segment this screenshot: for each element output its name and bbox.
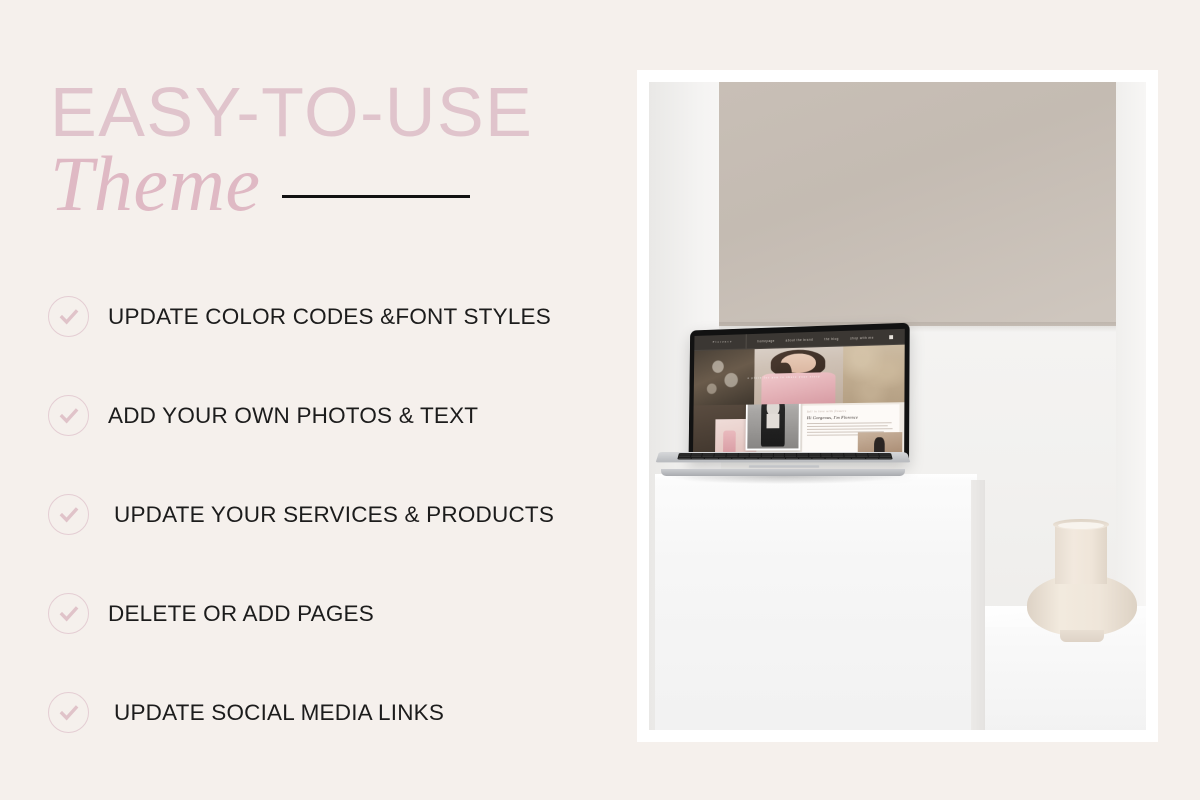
nav-link-blog[interactable]: the blog (824, 336, 838, 340)
nav-link-about[interactable]: about the brand (786, 337, 814, 342)
list-item-label: UPDATE SOCIAL MEDIA LINKS (114, 700, 444, 726)
product-photo: Florence homepage about the brand the bl… (649, 82, 1146, 730)
list-item[interactable]: DELETE OR ADD PAGES (48, 593, 608, 634)
check-circle-icon (48, 692, 89, 733)
laptop-lid: Florence homepage about the brand the bl… (689, 323, 910, 462)
list-item-label: ADD YOUR OWN PHOTOS & TEXT (108, 403, 478, 429)
laptop-base-front (661, 469, 905, 476)
main-pedestal (655, 480, 977, 730)
vase-foot (1060, 630, 1104, 642)
list-item-label: UPDATE COLOR CODES &FONT STYLES (108, 304, 551, 330)
hero-pampas-grass-image (843, 345, 905, 404)
portrait-midsection (767, 414, 779, 428)
black-white-portrait-card (746, 402, 801, 450)
ceramic-vase (1027, 522, 1137, 644)
vase-rim-inner (1058, 522, 1104, 529)
text-line (807, 434, 861, 436)
headline-divider-rule (282, 195, 470, 198)
laptop-screen: Florence homepage about the brand the bl… (693, 329, 905, 457)
intro-title: Hi Gorgeous, I'm Florence (807, 414, 895, 420)
site-lower-section: fall in love with flowers Hi Gorgeous, I… (693, 402, 904, 456)
vase-neck (1055, 522, 1107, 584)
headline-block: EASY-TO-USE Theme (50, 78, 580, 223)
laptop-base (657, 452, 909, 482)
black-white-portrait (748, 402, 799, 448)
list-item-label: UPDATE YOUR SERVICES & PRODUCTS (114, 502, 554, 528)
headline-line-2: Theme (50, 145, 260, 223)
website-preview: Florence homepage about the brand the bl… (693, 329, 905, 457)
text-line (807, 425, 888, 427)
check-circle-icon (48, 593, 89, 634)
list-item[interactable]: UPDATE COLOR CODES &FONT STYLES (48, 296, 608, 337)
laptop-keyboard (677, 453, 893, 459)
list-item[interactable]: UPDATE SOCIAL MEDIA LINKS (48, 692, 608, 733)
text-line (807, 422, 891, 424)
laptop-shadow (667, 476, 899, 484)
laptop-trackpad (749, 465, 819, 468)
site-nav-links: homepage about the brand the blog shop w… (747, 334, 899, 343)
poster-canvas: EASY-TO-USE Theme UPDATE COLOR CODES &FO… (0, 0, 1200, 800)
list-item[interactable]: ADD YOUR OWN PHOTOS & TEXT (48, 395, 608, 436)
list-item[interactable]: UPDATE YOUR SERVICES & PRODUCTS (48, 494, 608, 535)
nav-link-shop[interactable]: shop with me (850, 335, 874, 340)
key-row (677, 457, 893, 459)
site-brand-logo[interactable]: Florence (700, 334, 747, 350)
product-photo-frame: Florence homepage about the brand the bl… (637, 70, 1158, 742)
intro-script-text: fall in love with flowers (807, 408, 895, 413)
list-item-label: DELETE OR ADD PAGES (108, 601, 374, 627)
main-pedestal-edge (971, 480, 985, 730)
laptop-mockup: Florence homepage about the brand the bl… (657, 322, 909, 482)
check-circle-icon (48, 494, 89, 535)
left-content-panel: EASY-TO-USE Theme UPDATE COLOR CODES &FO… (0, 0, 620, 800)
headline-row: Theme (50, 145, 580, 223)
nav-link-homepage[interactable]: homepage (757, 339, 774, 343)
site-hero-section: a place for you to share your story (694, 345, 905, 406)
cart-icon[interactable] (889, 335, 893, 339)
beige-wall-panel (719, 82, 1118, 326)
headline-line-1: EASY-TO-USE (50, 78, 580, 147)
feature-checklist: UPDATE COLOR CODES &FONT STYLES ADD YOUR… (48, 296, 608, 733)
text-line (807, 428, 892, 430)
check-circle-icon (48, 395, 89, 436)
check-circle-icon (48, 296, 89, 337)
